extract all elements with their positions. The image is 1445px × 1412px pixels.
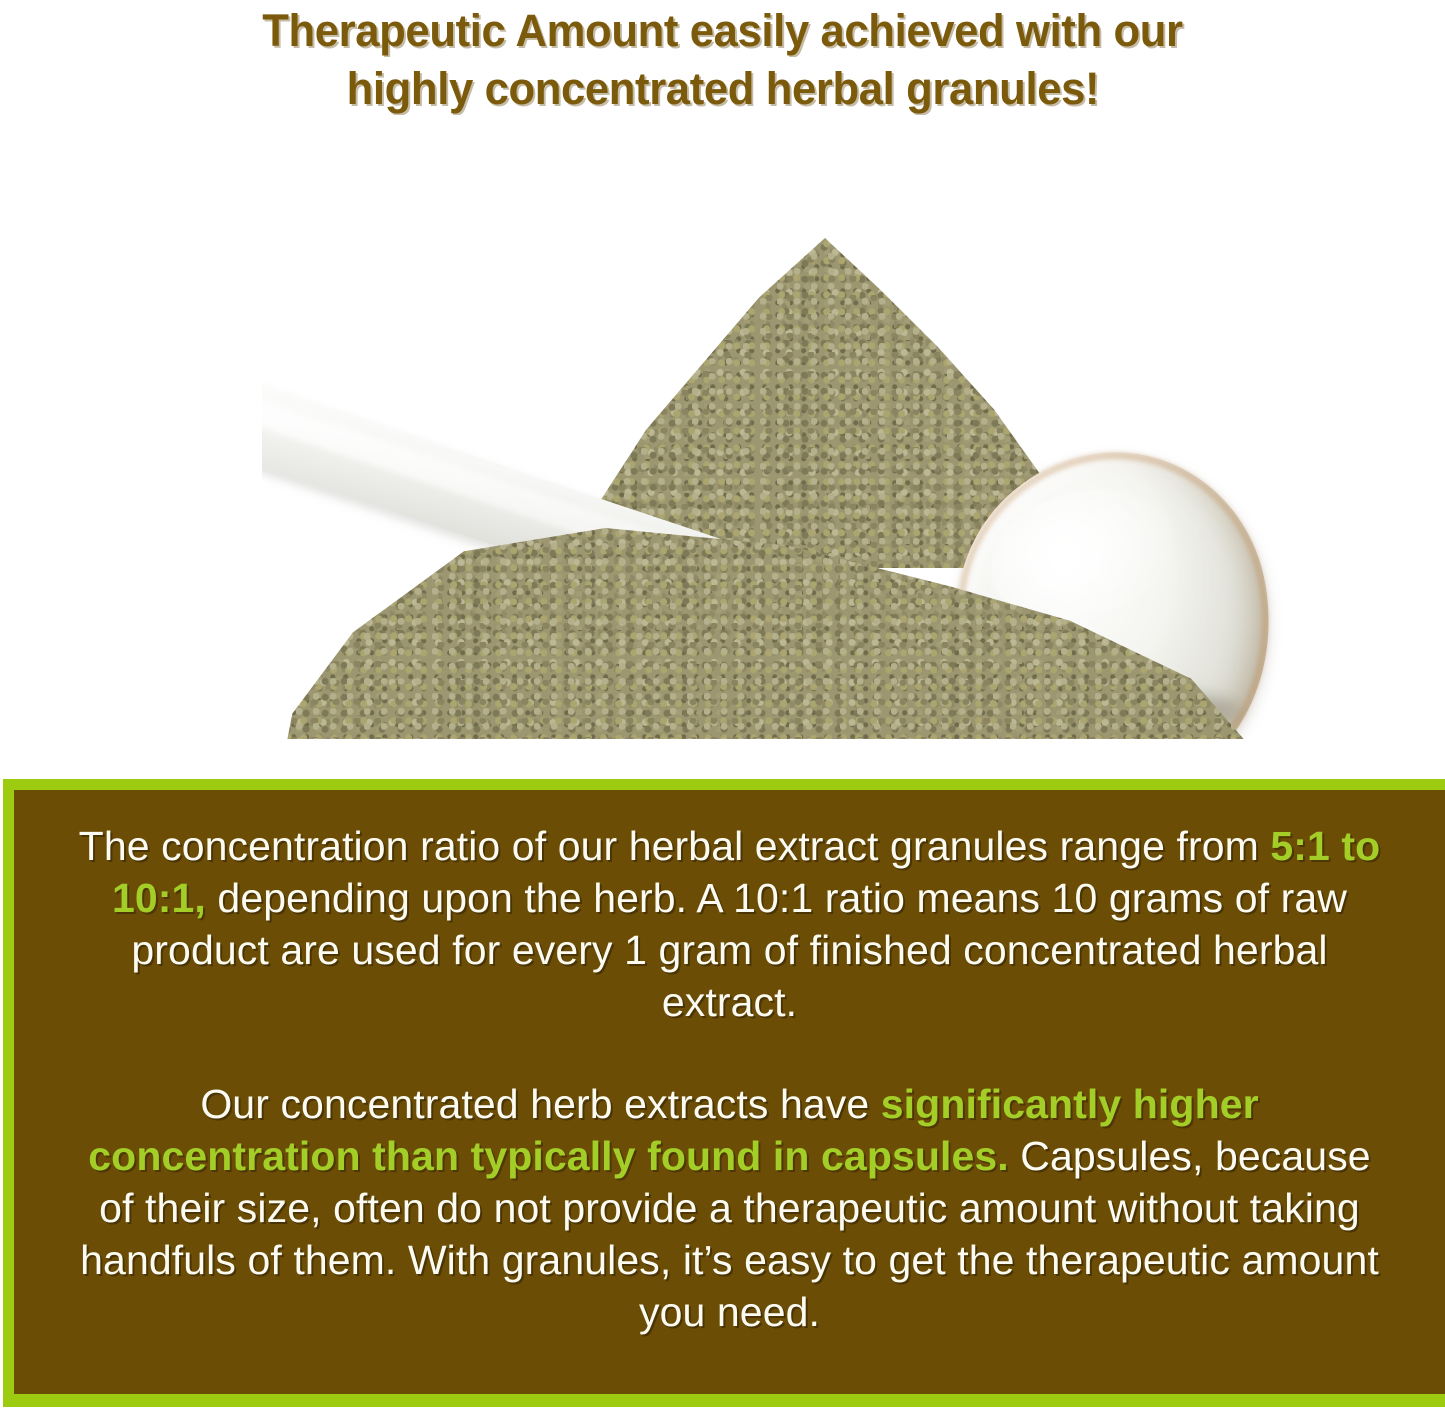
paragraph1-part2: depending upon the herb. A 10:1 ratio me…: [131, 875, 1347, 1025]
page-headline: Therapeutic Amount easily achieved with …: [0, 0, 1445, 128]
paragraph-concentration-ratio: The concentration ratio of our herbal ex…: [66, 820, 1393, 1028]
info-panel: The concentration ratio of our herbal ex…: [14, 790, 1445, 1394]
photo-stage: [0, 128, 1445, 779]
headline-line-2: highly concentrated herbal granules!: [346, 60, 1098, 118]
paragraph2-part1: Our concentrated herb extracts have: [200, 1081, 880, 1127]
paragraph1-part1: The concentration ratio of our herbal ex…: [79, 823, 1271, 869]
info-panel-border: The concentration ratio of our herbal ex…: [3, 779, 1445, 1407]
headline-line-1: Therapeutic Amount easily achieved with …: [262, 2, 1182, 60]
product-photo: [0, 128, 1445, 779]
paragraph-capsule-comparison: Our concentrated herb extracts have sign…: [66, 1078, 1393, 1338]
